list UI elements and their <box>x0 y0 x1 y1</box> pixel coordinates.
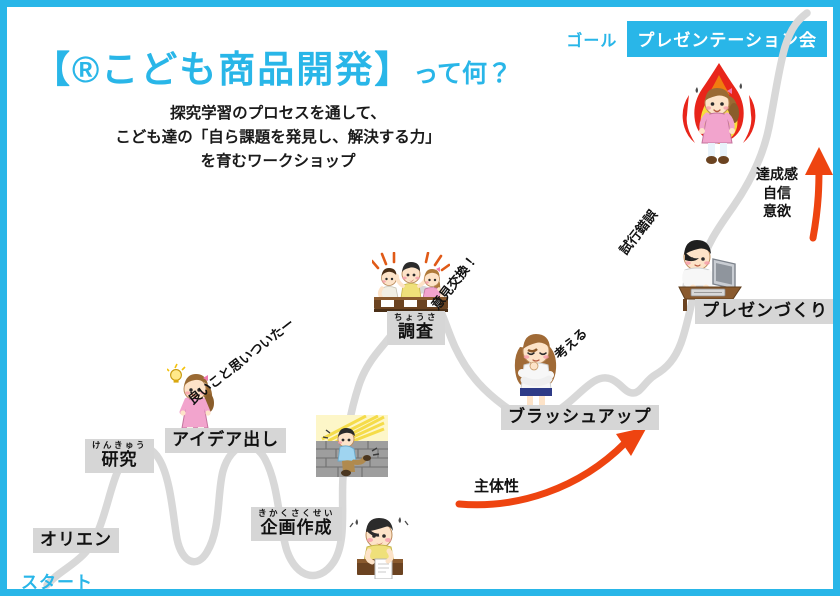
stage-label-planning: 企画作成 <box>258 518 335 537</box>
page-title-tail: って何？ <box>413 60 512 88</box>
stage-furigana-survey: ちょうさ <box>394 313 438 322</box>
goal-label: ゴール <box>566 27 617 51</box>
goal-header: ゴール プレゼンテーション会 <box>566 21 827 57</box>
stage-chip-ideation[interactable]: アイデア出し <box>165 428 286 453</box>
illustration-girl-thinking <box>506 325 568 407</box>
lightbulb-icon <box>167 364 185 383</box>
outcomes-arrow <box>805 147 833 238</box>
stage-label-orientation: オリエン <box>40 530 112 549</box>
annotation-autonomy: 主体性 <box>474 475 519 496</box>
subtitle: 探究学習のプロセスを通して、 こども達の「自ら課題を発見し、解決する力」 を育む… <box>78 102 478 174</box>
stage-label-survey: 調査 <box>394 322 438 341</box>
stage-chip-brushup[interactable]: ブラッシュアップ <box>501 405 659 430</box>
title-block: 【®こども商品開発】って何？ 探究学習のプロセスを通して、 こども達の「自ら課題… <box>33 51 553 174</box>
girl-with-flames-icon <box>667 61 771 169</box>
page-title-main: 【®こども商品開発】 <box>33 49 413 90</box>
annotation-outcome-1: 達成感 <box>756 165 798 184</box>
subtitle-line-3: を育むワークショップ <box>78 150 478 174</box>
illustration-kid-wall <box>316 415 388 477</box>
stage-chip-orientation[interactable]: オリエン <box>33 528 119 553</box>
page-title: 【®こども商品開発】って何？ <box>33 51 553 90</box>
stage-chip-planning[interactable]: きかくさくせい 企画作成 <box>251 507 342 541</box>
stage-chip-survey[interactable]: ちょうさ 調査 <box>387 311 445 345</box>
illustration-kid-desk <box>343 507 415 579</box>
subtitle-line-1: 探究学習のプロセスを通して、 <box>78 102 478 126</box>
stage-chip-presentation-making[interactable]: プレゼンづくり <box>695 299 835 324</box>
child-writing-at-desk-icon <box>343 507 415 579</box>
stage-label-brushup: ブラッシュアップ <box>508 407 652 426</box>
annotation-outcome-2: 自信 <box>756 184 798 203</box>
annotation-idea-thought: 良いこと思いついたー <box>183 313 297 408</box>
stage-label-ideation: アイデア出し <box>172 430 279 449</box>
stage-label-research: 研究 <box>92 450 147 469</box>
annotation-trial-and-error: 試行錯誤 <box>614 205 661 258</box>
subtitle-line-2: こども達の「自ら課題を発見し、解決する力」 <box>78 126 478 150</box>
stage-chip-research[interactable]: けんきゅう 研究 <box>85 439 154 473</box>
annotation-outcomes: 達成感 自信 意欲 <box>756 165 798 221</box>
infographic-canvas: ゴール プレゼンテーション会 【®こども商品開発】って何？ 探究学習のプロセスを… <box>0 0 840 596</box>
goal-value-badge: プレゼンテーション会 <box>627 21 827 57</box>
start-label: スタート <box>21 568 93 593</box>
illustration-girl-flames <box>667 61 771 169</box>
child-climbing-wall-icon <box>316 415 388 477</box>
stage-label-presentation-making: プレゼンづくり <box>702 301 828 320</box>
annotation-outcome-3: 意欲 <box>756 202 798 221</box>
stage-furigana-research: けんきゅう <box>92 441 147 450</box>
stage-furigana-planning: きかくさくせい <box>258 509 335 518</box>
girl-thinking-icon <box>506 325 568 407</box>
